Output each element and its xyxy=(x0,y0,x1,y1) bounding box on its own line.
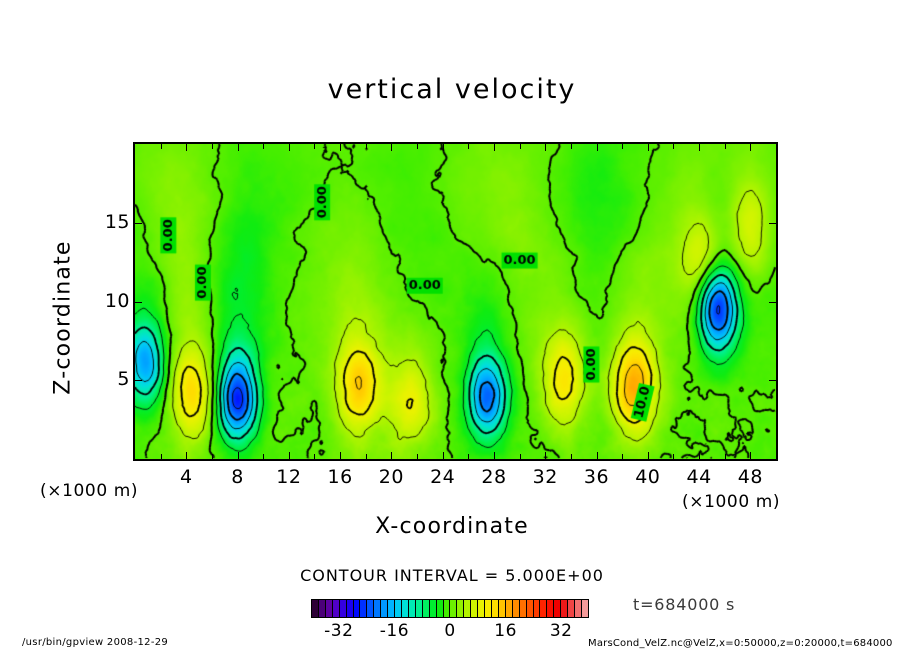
x-tick xyxy=(289,452,290,459)
colorbar-segment xyxy=(534,600,541,617)
footer-command: /usr/bin/gpview 2008-12-29 xyxy=(22,637,168,648)
colorbar-segment xyxy=(492,600,499,617)
colorbar-segment xyxy=(471,600,478,617)
colorbar-segment xyxy=(416,600,423,617)
x-tick-minor xyxy=(571,454,572,459)
x-tick xyxy=(186,144,187,151)
x-tick xyxy=(340,144,341,151)
y-tick-label: 5 xyxy=(96,368,130,390)
colorbar-segment xyxy=(340,600,347,617)
x-tick-minor xyxy=(263,144,264,149)
colorbar-segment xyxy=(457,600,464,617)
colorbar-segment xyxy=(374,600,381,617)
x-tick xyxy=(391,144,392,151)
contour-plot-panel xyxy=(133,142,778,461)
colorbar-segment xyxy=(319,600,326,617)
colorbar-segment xyxy=(506,600,513,617)
colorbar-segment xyxy=(540,600,547,617)
y-tick xyxy=(769,380,776,381)
colorbar xyxy=(311,599,589,618)
x-tick-minor xyxy=(622,454,623,459)
colorbar-segment xyxy=(582,600,588,617)
x-tick-minor xyxy=(417,454,418,459)
colorbar-tick-label: -16 xyxy=(364,621,424,641)
x-tick-minor xyxy=(366,144,367,149)
x-tick xyxy=(648,452,649,459)
contour-interval-caption: CONTOUR INTERVAL = 5.000E+00 xyxy=(0,566,904,585)
colorbar-segment xyxy=(444,600,451,617)
colorbar-segment xyxy=(575,600,582,617)
colorbar-tick-label: 16 xyxy=(476,621,536,641)
colorbar-segment xyxy=(354,600,361,617)
colorbar-segment xyxy=(547,600,554,617)
x-tick xyxy=(545,144,546,151)
colorbar-segment xyxy=(347,600,354,617)
x-tick-minor xyxy=(520,144,521,149)
x-tick xyxy=(699,452,700,459)
colorbar-segment xyxy=(568,600,575,617)
colorbar-segment xyxy=(554,600,561,617)
x-tick xyxy=(289,144,290,151)
colorbar-segment xyxy=(360,600,367,617)
colorbar-segment xyxy=(430,600,437,617)
x-tick-minor xyxy=(314,144,315,149)
x-tick-minor xyxy=(212,454,213,459)
x-tick-minor xyxy=(725,454,726,459)
x-tick-minor xyxy=(520,454,521,459)
x-tick xyxy=(494,452,495,459)
x-tick xyxy=(750,144,751,151)
x-tick xyxy=(238,452,239,459)
y-tick-label: 10 xyxy=(96,290,130,312)
colorbar-segment xyxy=(527,600,534,617)
x-tick xyxy=(597,452,598,459)
x-tick xyxy=(494,144,495,151)
x-tick xyxy=(443,452,444,459)
y-tick xyxy=(135,380,142,381)
x-tick xyxy=(648,144,649,151)
colorbar-tick-label: -32 xyxy=(309,621,369,641)
colorbar-tick-label: 32 xyxy=(531,621,591,641)
x-axis-unit-right: (×1000 m) xyxy=(682,492,780,512)
colorbar-segment xyxy=(485,600,492,617)
x-tick xyxy=(597,144,598,151)
colorbar-segment xyxy=(402,600,409,617)
colorbar-segment xyxy=(409,600,416,617)
x-tick-minor xyxy=(673,454,674,459)
colorbar-segment xyxy=(513,600,520,617)
colorbar-segment xyxy=(520,600,527,617)
x-tick-minor xyxy=(468,454,469,459)
x-tick xyxy=(340,452,341,459)
x-tick-minor xyxy=(468,144,469,149)
colorbar-segment xyxy=(388,600,395,617)
x-tick xyxy=(238,144,239,151)
x-tick-minor xyxy=(725,144,726,149)
x-tick xyxy=(186,452,187,459)
colorbar-segment xyxy=(423,600,430,617)
x-axis-unit-left: (×1000 m) xyxy=(40,481,138,501)
x-tick-minor xyxy=(417,144,418,149)
y-tick xyxy=(135,302,142,303)
colorbar-segment xyxy=(312,600,319,617)
x-tick-label: 48 xyxy=(720,466,780,488)
x-tick xyxy=(750,452,751,459)
x-tick xyxy=(545,452,546,459)
y-tick xyxy=(769,302,776,303)
colorbar-segment xyxy=(561,600,568,617)
y-tick xyxy=(135,223,142,224)
y-axis-title: Z-coordinate xyxy=(51,223,76,413)
y-tick xyxy=(769,223,776,224)
colorbar-segment xyxy=(464,600,471,617)
x-tick-minor xyxy=(571,144,572,149)
colorbar-segment xyxy=(437,600,444,617)
x-tick-minor xyxy=(622,144,623,149)
colorbar-segment xyxy=(450,600,457,617)
x-tick-minor xyxy=(263,454,264,459)
x-tick-minor xyxy=(212,144,213,149)
page-title: vertical velocity xyxy=(0,74,904,105)
footer-dataset: MarsCond_VelZ.nc@VelZ,x=0:50000,z=0:2000… xyxy=(588,638,893,649)
colorbar-segment xyxy=(478,600,485,617)
x-tick-minor xyxy=(673,144,674,149)
colorbar-segment xyxy=(381,600,388,617)
colorbar-segment xyxy=(499,600,506,617)
x-tick-minor xyxy=(366,454,367,459)
x-tick-minor xyxy=(161,144,162,149)
x-tick xyxy=(699,144,700,151)
time-label: t=684000 s xyxy=(633,595,735,614)
colorbar-segment xyxy=(367,600,374,617)
x-tick xyxy=(391,452,392,459)
x-tick xyxy=(443,144,444,151)
colorbar-segment xyxy=(333,600,340,617)
x-tick-minor xyxy=(314,454,315,459)
vertical-velocity-field xyxy=(135,144,776,459)
colorbar-segment xyxy=(326,600,333,617)
colorbar-tick-label: 0 xyxy=(420,621,480,641)
colorbar-segment xyxy=(395,600,402,617)
x-axis-title: X-coordinate xyxy=(0,514,904,539)
y-tick-label: 15 xyxy=(96,211,130,233)
x-tick-minor xyxy=(161,454,162,459)
